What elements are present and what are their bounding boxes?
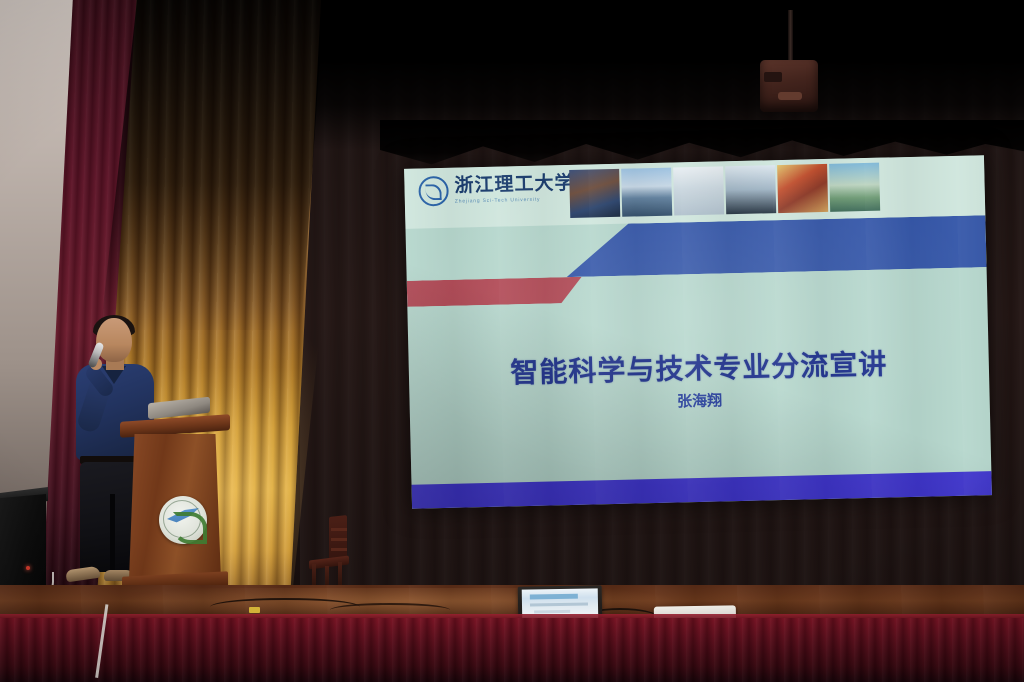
projector-mount-pole — [788, 10, 793, 62]
monitor-content-line — [530, 603, 588, 607]
presenter-leg-gap — [110, 494, 115, 572]
podium-body — [129, 434, 221, 580]
floor-tape-marker — [249, 607, 260, 613]
campus-photo — [725, 165, 776, 214]
chair-rung — [331, 528, 347, 531]
presentation-photo-scene: 浙江理工大学 Zhejiang Sci-Tech University 智能科学… — [0, 0, 1024, 682]
projector-lens — [778, 92, 802, 100]
campus-photo-strip — [569, 163, 880, 218]
slide-blue-shape — [565, 215, 986, 277]
chair-rung — [331, 538, 347, 541]
campus-photo — [829, 163, 880, 212]
projector-vent — [764, 72, 782, 82]
stage-chair — [305, 516, 351, 592]
university-name-cn: 浙江理工大学 — [454, 174, 574, 196]
campus-photo — [777, 164, 828, 213]
projection-screen: 浙江理工大学 Zhejiang Sci-Tech University 智能科学… — [404, 155, 992, 509]
podium — [120, 412, 230, 602]
seal-ring — [163, 500, 201, 538]
projector-icon — [760, 60, 818, 112]
campus-photo — [621, 168, 672, 217]
university-seal-icon — [159, 496, 207, 544]
presenter-head — [96, 318, 132, 362]
monitor-content-line — [530, 594, 578, 600]
chair-rung — [331, 548, 347, 551]
university-logo-icon — [418, 176, 449, 207]
slide-surface: 浙江理工大学 Zhejiang Sci-Tech University 智能科学… — [404, 155, 992, 509]
pa-power-led-icon — [26, 566, 30, 570]
monitor-content-line — [534, 610, 570, 614]
university-logo: 浙江理工大学 Zhejiang Sci-Tech University — [418, 173, 575, 207]
campus-photo — [569, 169, 620, 218]
slide-red-band — [407, 277, 583, 307]
presenter-shoe — [65, 566, 100, 583]
campus-photo — [673, 166, 724, 215]
white-floor-cable — [95, 604, 164, 682]
